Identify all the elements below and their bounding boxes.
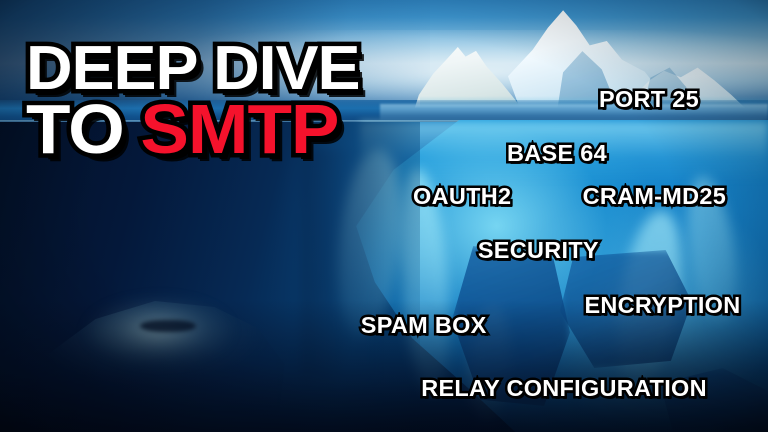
title-line-1: DEEP DIVE [26,42,359,95]
title-word-to: TO [26,90,124,168]
iceberg-label-relay-configuration: RELAY CONFIGURATION [421,375,707,402]
iceberg-label-encryption: ENCRYPTION [584,292,740,319]
iceberg-label-security: SECURITY [478,237,599,264]
iceberg-label-spam-box: SPAM BOX [361,312,487,339]
video-thumbnail: DEEP DIVE TOSMTP PORT 25 BASE 64 OAUTH2 … [0,0,768,432]
title-line-2: TOSMTP [26,99,359,159]
iceberg-label-cram-md25: CRAM-MD25 [583,183,727,210]
title-word-smtp: SMTP [140,90,338,168]
sea-glint [380,104,768,120]
iceberg-label-oauth2: OAUTH2 [413,183,511,210]
iceberg-label-port-25: PORT 25 [599,86,699,113]
iceberg-label-base-64: BASE 64 [507,140,607,167]
title-block: DEEP DIVE TOSMTP [26,42,347,160]
